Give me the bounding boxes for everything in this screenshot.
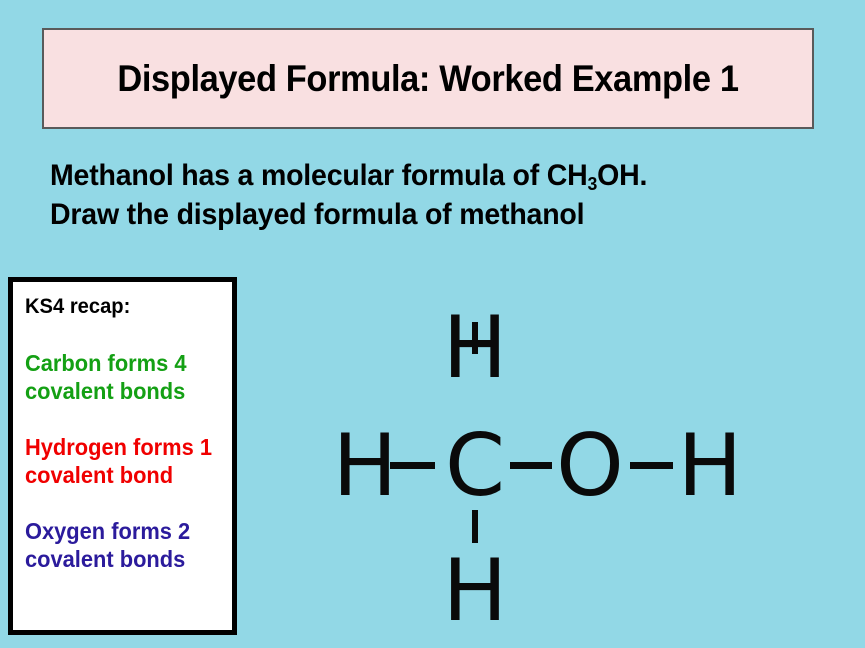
bond-carbon-hydrogen-bottom — [472, 510, 478, 543]
bond-hydrogen-carbon-left — [390, 462, 435, 469]
methanol-structure-diagram: H H C O H H — [300, 290, 780, 640]
question-line-1: Methanol has a molecular formula of CH3O… — [50, 158, 801, 197]
bond-carbon-hydrogen-top — [472, 322, 478, 354]
ks4-recap-box: KS4 recap: Carbon forms 4 covalent bonds… — [8, 277, 237, 635]
recap-item-hydrogen: Hydrogen forms 1 covalent bond — [25, 433, 228, 489]
recap-heading: KS4 recap: — [25, 294, 224, 319]
recap-item-oxygen: Oxygen forms 2 covalent bonds — [25, 517, 228, 573]
question-text: Methanol has a molecular formula of CH3O… — [50, 158, 840, 233]
page-title: Displayed Formula: Worked Example 1 — [117, 58, 738, 100]
question-line-1-prefix: Methanol has a molecular formula of CH — [50, 159, 588, 192]
formula-subscript: 3 — [588, 173, 598, 194]
atom-carbon: C — [440, 423, 510, 509]
title-banner: Displayed Formula: Worked Example 1 — [42, 28, 814, 129]
question-line-1-suffix: OH. — [597, 159, 647, 192]
atom-hydrogen-right: H — [675, 423, 745, 509]
bond-carbon-oxygen — [510, 462, 552, 469]
question-line-2: Draw the displayed formula of methanol — [50, 197, 801, 233]
recap-item-carbon: Carbon forms 4 covalent bonds — [25, 349, 228, 405]
bond-oxygen-hydrogen — [630, 462, 673, 469]
atom-oxygen: O — [555, 423, 625, 509]
atom-hydrogen-bottom: H — [440, 548, 510, 634]
